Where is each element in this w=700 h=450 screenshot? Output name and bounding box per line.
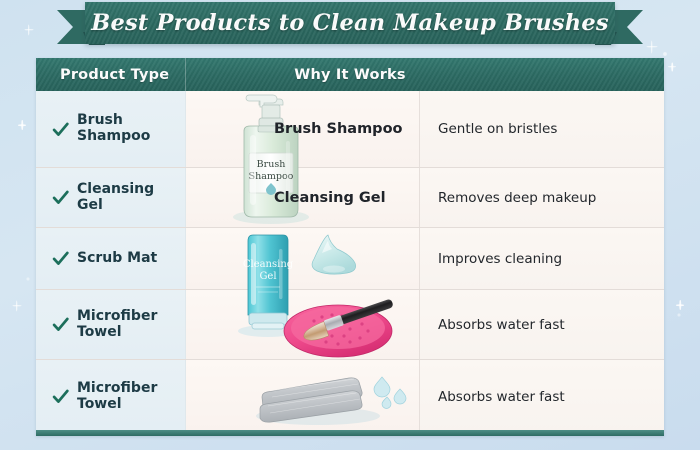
why-it-works-label: Removes deep makeup (438, 190, 596, 206)
check-icon (52, 316, 69, 333)
why-it-works-label: Gentle on bristles (438, 121, 557, 137)
product-type-label: Microfiber Towel (77, 381, 157, 412)
cell-why-it-works: Absorbs water fast (420, 290, 664, 359)
cell-product-name: Cleansing Gel (186, 168, 420, 227)
cell-product-type: Microfiber Towel (36, 290, 186, 359)
table-row: Scrub MatImproves cleaning (36, 227, 664, 289)
table-row: Brush ShampooBrush ShampooGentle on bris… (36, 91, 664, 167)
why-it-works-label: Absorbs water fast (438, 317, 565, 333)
sparkle-icon (12, 300, 21, 311)
product-type-label: Microfiber Towel (77, 309, 157, 340)
cell-product-type: Cleansing Gel (36, 168, 186, 227)
table-row: Microfiber TowelAbsorbs water fast (36, 359, 664, 433)
products-table: Product Type Why It Works Brush ShampooB… (36, 58, 664, 436)
column-header-why-it-works: Why It Works (186, 58, 664, 91)
cell-why-it-works: Gentle on bristles (420, 91, 664, 167)
page-title: Best Products to Clean Makeup Brushes (91, 10, 608, 36)
cell-why-it-works: Improves cleaning (420, 228, 664, 289)
cell-product-name: Brush Shampoo (186, 91, 420, 167)
check-icon (52, 388, 69, 405)
cell-why-it-works: Absorbs water fast (420, 360, 664, 433)
cell-product-name (186, 228, 420, 289)
infographic-canvas: Best Products to Clean Makeup Brushes Pr… (0, 0, 700, 450)
ribbon-body: Best Products to Clean Makeup Brushes (85, 2, 615, 44)
cell-product-type: Scrub Mat (36, 228, 186, 289)
table-row: Cleansing GelCleansing GelRemoves deep m… (36, 167, 664, 227)
product-type-label: Cleansing Gel (77, 182, 154, 213)
why-it-works-label: Absorbs water fast (438, 389, 565, 405)
cell-product-type: Brush Shampoo (36, 91, 186, 167)
table-body: Brush ShampooBrush ShampooGentle on bris… (36, 91, 664, 433)
column-header-product-type: Product Type (36, 58, 186, 91)
cell-product-name (186, 360, 420, 433)
cell-product-type: Microfiber Towel (36, 360, 186, 433)
table-footer-bar (36, 430, 664, 436)
check-icon (52, 189, 69, 206)
check-icon (52, 121, 69, 138)
sparkle-icon (18, 120, 26, 130)
product-type-label: Brush Shampoo (77, 113, 150, 144)
table-row: Microfiber TowelAbsorbs water fast (36, 289, 664, 359)
product-name-label: Cleansing Gel (274, 190, 386, 206)
sparkle-icon (676, 300, 684, 310)
why-it-works-label: Improves cleaning (438, 251, 562, 267)
check-icon (52, 250, 69, 267)
product-type-label: Scrub Mat (77, 251, 157, 267)
title-ribbon: Best Products to Clean Makeup Brushes (57, 2, 643, 50)
sparkle-icon (646, 40, 657, 53)
product-name-label: Brush Shampoo (274, 121, 403, 137)
table-header-row: Product Type Why It Works (36, 58, 664, 91)
cell-why-it-works: Removes deep makeup (420, 168, 664, 227)
sparkle-icon (668, 62, 676, 71)
sparkle-icon (24, 24, 33, 35)
cell-product-name (186, 290, 420, 359)
